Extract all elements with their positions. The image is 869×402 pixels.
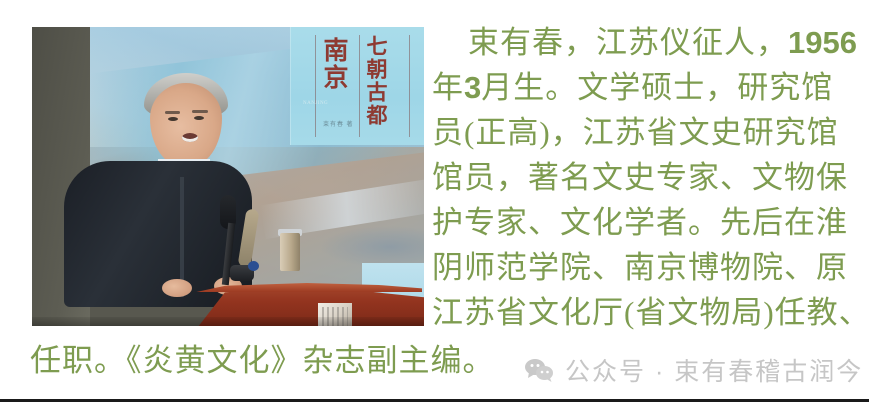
photo-cup [280,233,300,271]
photo-speaker-eyebrow-left [165,111,180,114]
photo-foreground-shadow [32,317,424,326]
biography-text: 月生。文学硕士，研究馆 [481,70,833,105]
speaker-photo: 南京 七朝古都 NANJING 束有春 著 [32,27,424,326]
photo-speaker-eyebrow-right [192,110,208,113]
slide-rule-right [409,35,410,137]
biography-text-column: 束有春，江苏仪征人，1956年3月生。文学硕士，研究馆员(正高)，江苏省文史研究… [432,20,862,335]
biography-line: 护专家、文化学者。先后在淮 [432,200,862,245]
biography-text: 年 [432,70,464,105]
biography-line: 阴师范学院、南京博物院、原 [432,245,862,290]
slide-rule-middle [359,35,360,137]
biography-number: 3 [464,70,481,105]
biography-text: 束有春，江苏仪征人， [468,25,788,60]
slide-main-title: 南京 [321,37,346,91]
biography-line: 束有春，江苏仪征人，1956 [432,20,862,65]
slide-title-card: 南京 七朝古都 NANJING 束有春 著 [290,27,424,145]
biography-line: 员(正高)，江苏省文史研究馆 [432,110,862,155]
biography-line: 江苏省文化厅(省文物局)任教、 [432,290,862,335]
photo-speaker-mouth [182,133,198,142]
biography-number: 1956 [788,25,857,60]
biography-text: 护专家、文化学者。先后在淮 [432,205,848,240]
biography-text: 阴师范学院、南京博物院、原 [432,250,848,285]
photo-speaker-eye-right [194,116,204,120]
screenshot-root: 南京 七朝古都 NANJING 束有春 著 束有春，江苏仪征人，1956年3月生… [0,0,869,402]
slide-rule-left [315,35,316,137]
biography-text: 馆员，著名文史专家、文物保 [432,160,848,195]
photo-speaker-eye-left [168,117,178,121]
footer-credit: 公众号 · 束有春稽古润今 [524,352,863,388]
photo-speaker-hand-left [162,279,192,297]
slide-byline: 束有春 著 [323,119,354,128]
biography-line: 年3月生。文学硕士，研究馆 [432,65,862,110]
footer-account-label: 公众号 · 束有春稽古润今 [565,352,863,388]
slide-sub-title: 七朝古都 [365,35,386,127]
biography-line: 馆员，著名文史专家、文物保 [432,155,862,200]
biography-text: 江苏省文化厅(省文物局)任教、 [432,295,869,330]
photo-microphone-indicator [248,261,259,271]
biography-text: 员(正高)，江苏省文史研究馆 [432,115,839,150]
slide-small-note: NANJING [303,101,328,106]
biography-last-line: 任职。《炎黄文化》杂志副主编。 [30,338,495,383]
wechat-icon [524,358,554,382]
